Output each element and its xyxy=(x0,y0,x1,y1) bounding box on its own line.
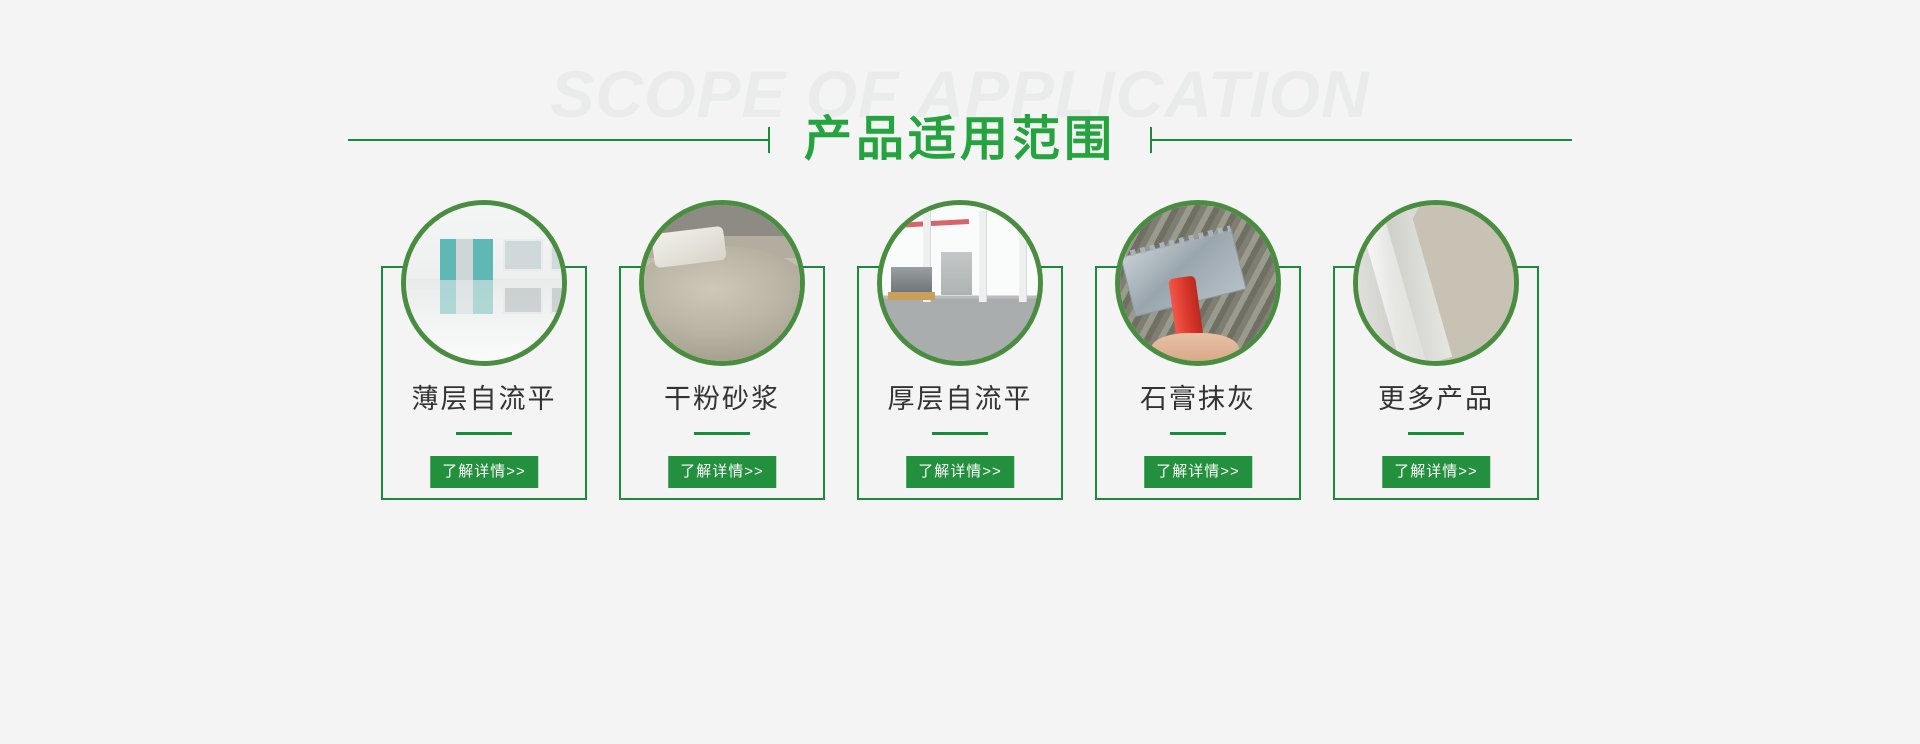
product-card[interactable]: 更多产品 了解详情>> xyxy=(1333,200,1539,510)
card-title: 更多产品 xyxy=(1333,386,1539,413)
product-card-list: 薄层自流平 了解详情>> 干粉砂浆 了解详情>> xyxy=(0,200,1920,510)
title-rule-left xyxy=(348,139,768,141)
window-pane xyxy=(503,239,544,270)
window-reflection xyxy=(503,286,544,314)
warehouse-grey-epoxy-floor-photo xyxy=(882,205,1038,361)
page-title: 产品适用范围 xyxy=(770,116,1150,164)
grey-dry-mortar-powder-pile-photo xyxy=(644,205,800,361)
card-thumbnail xyxy=(1353,200,1519,366)
section-header: SCOPE OF APPLICATION 产品适用范围 xyxy=(0,0,1920,200)
clean-room-glossy-white-floor-photo xyxy=(406,205,562,361)
card-title: 薄层自流平 xyxy=(381,386,587,413)
learn-more-button[interactable]: 了解详情>> xyxy=(430,456,538,488)
learn-more-button[interactable]: 了解详情>> xyxy=(906,456,1014,488)
pillar xyxy=(1019,211,1026,301)
ceiling-beam xyxy=(894,219,969,228)
title-rule-right xyxy=(1152,139,1572,141)
card-divider xyxy=(456,432,512,435)
card-thumbnail xyxy=(639,200,805,366)
roller-door xyxy=(941,252,972,296)
pallet xyxy=(888,292,935,300)
window-pane xyxy=(550,239,567,270)
notched-trowel-red-handle-on-mortar-photo xyxy=(1120,205,1276,361)
scope-of-application-section: SCOPE OF APPLICATION 产品适用范围 薄层自流平 xyxy=(0,0,1920,744)
learn-more-button[interactable]: 了解详情>> xyxy=(1382,456,1490,488)
learn-more-button[interactable]: 了解详情>> xyxy=(668,456,776,488)
card-divider xyxy=(1170,432,1226,435)
machine xyxy=(891,267,932,295)
glossy-beige-self-levelling-surface-photo xyxy=(1358,205,1514,361)
card-title: 干粉砂浆 xyxy=(619,386,825,413)
card-divider xyxy=(1408,432,1464,435)
product-card[interactable]: 石膏抹灰 了解详情>> xyxy=(1095,200,1301,510)
card-thumbnail xyxy=(877,200,1043,366)
product-card[interactable]: 干粉砂浆 了解详情>> xyxy=(619,200,825,510)
card-divider xyxy=(932,432,988,435)
card-title: 厚层自流平 xyxy=(857,386,1063,413)
product-card[interactable]: 薄层自流平 了解详情>> xyxy=(381,200,587,510)
learn-more-button[interactable]: 了解详情>> xyxy=(1144,456,1252,488)
product-card[interactable]: 厚层自流平 了解详情>> xyxy=(857,200,1063,510)
card-thumbnail xyxy=(401,200,567,366)
card-divider xyxy=(694,432,750,435)
card-title: 石膏抹灰 xyxy=(1095,386,1301,413)
title-row: 产品适用范围 xyxy=(0,100,1920,180)
pillar xyxy=(979,211,986,301)
card-thumbnail xyxy=(1115,200,1281,366)
